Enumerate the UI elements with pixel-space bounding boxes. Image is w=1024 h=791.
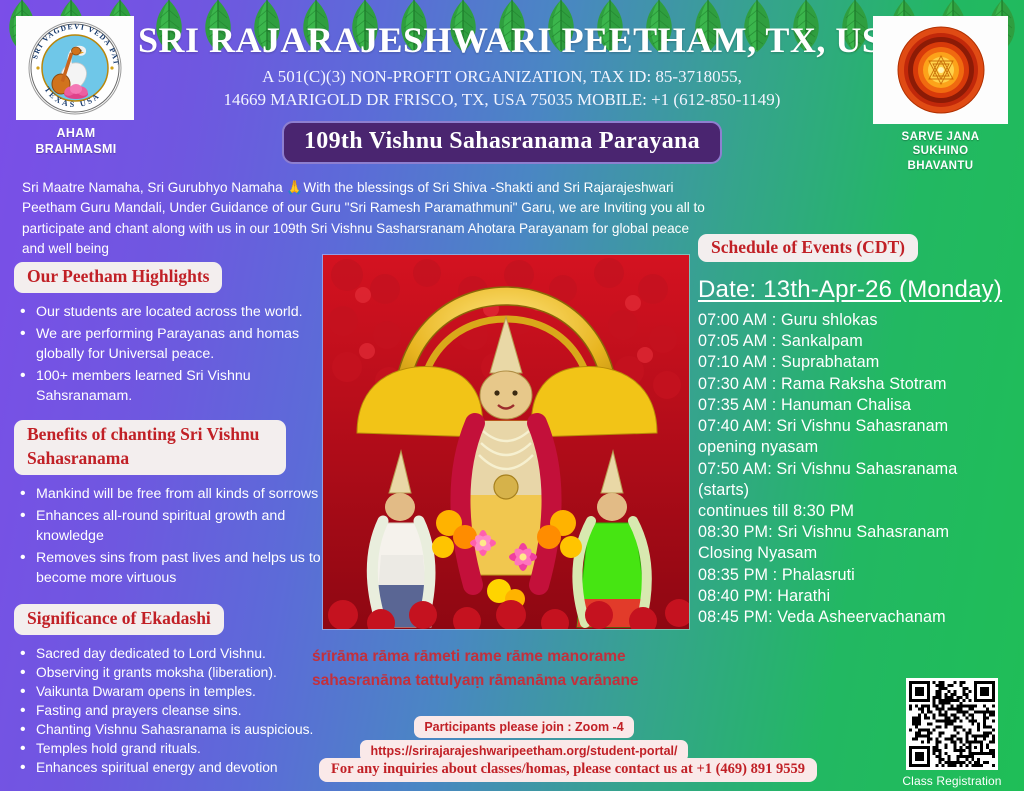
list-item: 100+ members learned Sri Vishnu Sahsrana… [18,366,330,406]
schedule-entry: 07:30 AM : Rama Raksha Stotram [698,374,1018,395]
schedule-entry: 08:40 PM: Harathi [698,586,1018,607]
list-item: Our students are located across the worl… [18,302,330,322]
vagdevi-patashala-logo-icon: SRI VAGDEVI VEDA PATASHALA TEXAS USA [16,16,134,120]
section-header-benefits: Benefits of chanting Sri Vishnu Sahasran… [14,420,286,474]
schedule-entry: 08:45 PM: Veda Asheervachanam [698,607,1018,628]
schedule-entries: 07:00 AM : Guru shlokas 07:05 AM : Sanka… [698,310,1018,628]
list-item: Mankind will be free from all kinds of s… [18,484,330,504]
logo-right-caption-line1: SARVE JANA SUKHINO [873,130,1008,159]
page-title: SRI RAJARAJESHWARI PEETHAM, TX, USA [138,22,866,60]
qr-label: Class Registration [902,774,1002,788]
list-item: Enhances all-round spiritual growth and … [18,506,330,546]
temple-deities-photo [322,254,690,630]
contact-info: For any inquiries about classes/homas, p… [283,758,853,782]
schedule-entry: (starts) [698,480,1018,501]
list-item: Chanting Vishnu Sahasranama is auspiciou… [18,720,330,739]
logo-right-caption-line2: BHAVANTU [873,159,1008,173]
logo-left-caption-line1: AHAM [16,126,136,142]
ekadashi-list: Sacred day dedicated to Lord Vishnu. Obs… [0,644,330,777]
sri-chakra-icon [873,16,1008,124]
header-text-block: SRI RAJARAJESHWARI PEETHAM, TX, USA A 50… [138,22,866,164]
list-item: We are performing Parayanas and homas gl… [18,324,330,364]
event-title-banner: 109th Vishnu Sahasranama Parayana [282,121,722,164]
schedule-entry: 07:50 AM: Sri Vishnu Sahasranama [698,459,1018,480]
schedule-entry: 07:00 AM : Guru shlokas [698,310,1018,331]
section-header-schedule: Schedule of Events (CDT) [698,234,918,262]
list-item: Fasting and prayers cleanse sins. [18,701,330,720]
highlights-list: Our students are located across the worl… [0,302,330,407]
org-tax-line: A 501(C)(3) NON-PROFIT ORGANIZATION, TAX… [138,66,866,89]
qr-code-icon[interactable] [906,678,998,770]
verse-line-1: śrīrāma rāma rāmeti rame rāme manorame [312,645,712,669]
schedule-entry: 08:35 PM : Phalasruti [698,565,1018,586]
logo-left-caption-line2: BRAHMASMI [16,142,136,158]
sanskrit-verse: śrīrāma rāma rāmeti rame rāme manorame s… [312,645,712,693]
schedule-entry: 07:40 AM: Sri Vishnu Sahasranam [698,416,1018,437]
org-subtitle: A 501(C)(3) NON-PROFIT ORGANIZATION, TAX… [138,66,866,112]
class-registration-qr[interactable]: Class Registration [902,678,1002,788]
schedule-entry: 07:35 AM : Hanuman Chalisa [698,395,1018,416]
contact-text: For any inquiries about classes/homas, p… [319,758,817,782]
schedule-entry: 07:05 AM : Sankalpam [698,331,1018,352]
schedule-column: Schedule of Events (CDT) Date: 13th-Apr-… [698,234,1018,628]
intro-paragraph: Sri Maatre Namaha, Sri Gurubhyo Namaha 🙏… [22,178,712,260]
schedule-entry: opening nyasam [698,437,1018,458]
logo-right-caption: SARVE JANA SUKHINO BHAVANTU [873,130,1008,173]
logo-left-caption: AHAM BRAHMASMI [16,126,136,157]
organization-logo-right: SARVE JANA SUKHINO BHAVANTU [873,16,1008,173]
zoom-join-info: Participants please join : Zoom -4 https… [352,716,696,762]
schedule-date: Date: 13th-Apr-26 (Monday) [698,276,1018,304]
zoom-room-label: Participants please join : Zoom -4 [414,716,633,738]
schedule-entry: 07:10 AM : Suprabhatam [698,352,1018,373]
schedule-entry: continues till 8:30 PM [698,501,1018,522]
flyer-header: SRI VAGDEVI VEDA PATASHALA TEXAS USA [0,0,1024,175]
schedule-entry: Closing Nyasam [698,543,1018,564]
verse-line-2: sahasranāma tattulyaṃ rāmanāma varānane [312,669,712,693]
schedule-entry: 08:30 PM: Sri Vishnu Sahasranam [698,522,1018,543]
list-item: Removes sins from past lives and helps u… [18,548,330,588]
org-address-line: 14669 MARIGOLD DR FRISCO, TX, USA 75035 … [138,89,866,112]
list-item: Vaikunta Dwaram opens in temples. [18,682,330,701]
list-item: Temples hold grand rituals. [18,739,330,758]
section-header-ekadashi: Significance of Ekadashi [14,604,224,635]
list-item: Sacred day dedicated to Lord Vishnu. [18,644,330,663]
benefits-list: Mankind will be free from all kinds of s… [0,484,330,589]
organization-logo-left: SRI VAGDEVI VEDA PATASHALA TEXAS USA [16,16,136,157]
list-item: Observing it grants moksha (liberation). [18,663,330,682]
left-column: Our Peetham Highlights Our students are … [0,262,330,777]
section-header-highlights: Our Peetham Highlights [14,262,222,293]
